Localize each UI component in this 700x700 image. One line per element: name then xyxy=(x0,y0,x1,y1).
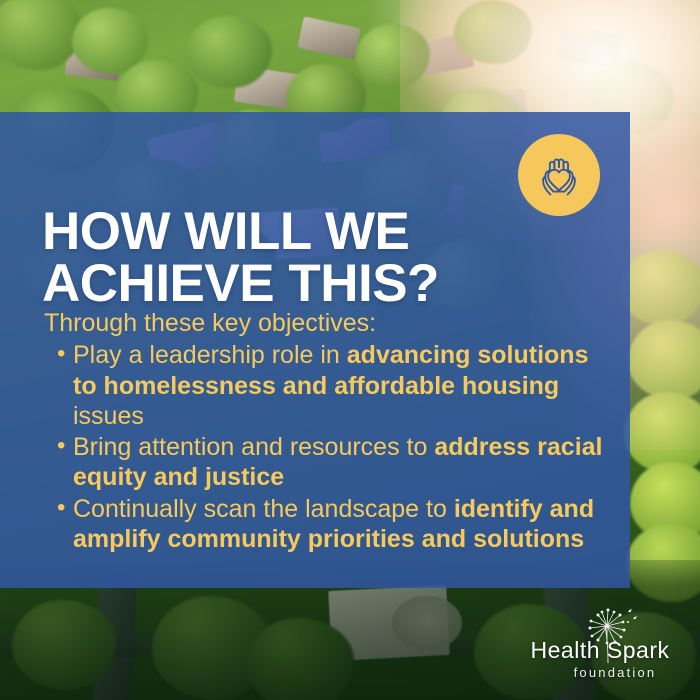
photo-tree xyxy=(186,16,272,88)
logo-wordmark: Health Spark xyxy=(520,637,680,664)
photo-tree xyxy=(620,250,700,326)
page-title-line2: ACHIEVE THIS? xyxy=(42,254,439,313)
logo-subtitle: foundation xyxy=(520,665,680,680)
objective-text-pre: Continually scan the landscape to xyxy=(73,495,454,523)
list-item: Bring attention and resources to address… xyxy=(44,432,616,493)
objective-text-pre: Play a leadership role in xyxy=(73,341,347,369)
photo-tree xyxy=(356,24,430,88)
objectives-block: Through these key objectives: Play a lea… xyxy=(44,308,616,555)
poster: HOW WILL WEACHIEVE THIS? Through these k… xyxy=(0,0,700,700)
hands-holding-heart-icon xyxy=(518,134,600,216)
logo: Health Spark foundation xyxy=(520,608,680,686)
list-item: Continually scan the landscape to identi… xyxy=(44,494,616,555)
objectives-list: Play a leadership role in advancing solu… xyxy=(44,340,616,554)
photo-tree xyxy=(454,0,532,64)
objectives-lead: Through these key objectives: xyxy=(44,308,616,338)
list-item: Play a leadership role in advancing solu… xyxy=(44,340,616,431)
page-title: HOW WILL WEACHIEVE THIS? xyxy=(42,206,562,311)
content-panel: HOW WILL WEACHIEVE THIS? Through these k… xyxy=(0,112,630,588)
objective-text-post: issues xyxy=(73,402,144,430)
page-title-line1: HOW WILL WE xyxy=(42,202,409,261)
objective-text-pre: Bring attention and resources to xyxy=(73,433,434,461)
